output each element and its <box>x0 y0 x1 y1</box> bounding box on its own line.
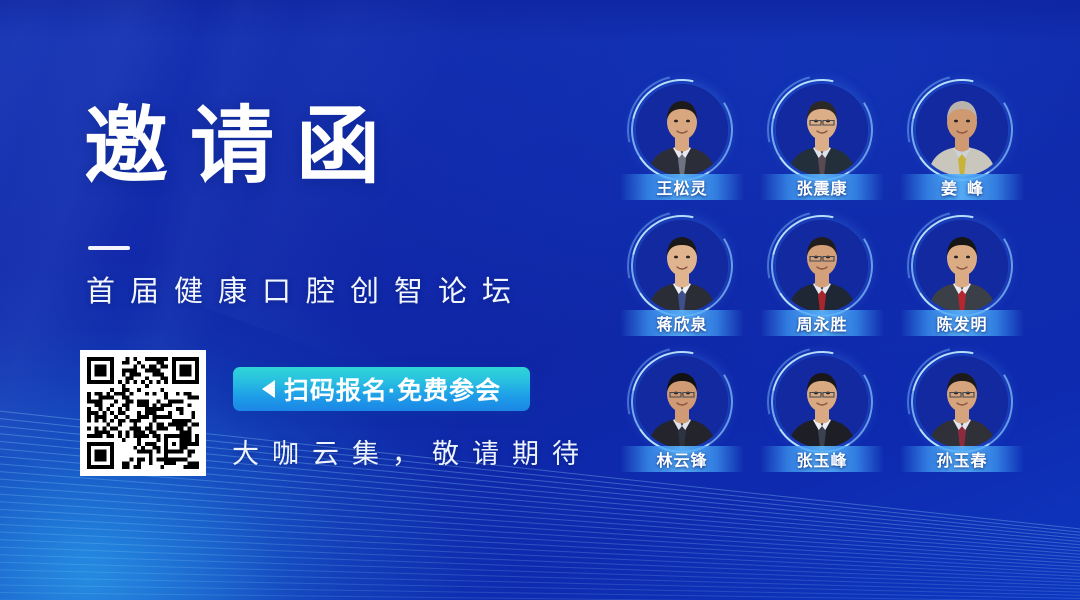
speaker-avatar <box>776 220 868 312</box>
qr-code[interactable] <box>80 350 206 476</box>
speaker-name: 孙玉春 <box>936 447 987 471</box>
speaker-card[interactable]: 张玉峰 <box>752 356 892 474</box>
speaker-name: 王松灵 <box>656 175 707 199</box>
speaker-grid: 王松灵张震康姜峰蒋欣泉周永胜陈发明林云锋张玉峰孙玉春 <box>612 84 1032 474</box>
speaker-name-plate: 孙玉春 <box>900 446 1024 472</box>
speaker-name-plate: 王松灵 <box>620 174 744 200</box>
speaker-avatar <box>636 84 728 176</box>
title-divider <box>88 246 130 250</box>
speaker-portrait-icon <box>776 356 868 448</box>
speaker-avatar <box>916 356 1008 448</box>
tagline-text: 大咖云集，敬请期待 <box>232 432 592 471</box>
speaker-name: 张震康 <box>796 175 847 199</box>
speaker-card[interactable]: 陈发明 <box>892 220 1032 338</box>
speaker-name: 周永胜 <box>796 311 847 335</box>
speaker-card[interactable]: 张震康 <box>752 84 892 202</box>
speaker-name: 张玉峰 <box>796 447 847 471</box>
speaker-name-plate: 蒋欣泉 <box>620 310 744 336</box>
speaker-card[interactable]: 孙玉春 <box>892 356 1032 474</box>
register-button[interactable]: 扫码报名·免费参会 <box>233 367 530 411</box>
left-triangle-icon <box>262 380 275 398</box>
register-button-label: 扫码报名·免费参会 <box>284 371 501 407</box>
speaker-portrait-icon <box>636 84 728 176</box>
speaker-card[interactable]: 林云锋 <box>612 356 752 474</box>
speaker-avatar <box>916 84 1008 176</box>
speaker-card[interactable]: 蒋欣泉 <box>612 220 752 338</box>
speaker-card[interactable]: 周永胜 <box>752 220 892 338</box>
page-subtitle: 首届健康口腔创智论坛 <box>86 268 526 310</box>
speaker-avatar <box>636 356 728 448</box>
speaker-portrait-icon <box>776 84 868 176</box>
left-content-column: 邀请函 首届健康口腔创智论坛 扫码报名·免费参会 大咖云集，敬请期待 <box>0 0 600 600</box>
speaker-portrait-icon <box>636 356 728 448</box>
speaker-card[interactable]: 王松灵 <box>612 84 752 202</box>
speaker-name: 林云锋 <box>656 447 707 471</box>
speaker-avatar <box>916 220 1008 312</box>
speaker-avatar <box>636 220 728 312</box>
invitation-poster: 邀请函 首届健康口腔创智论坛 扫码报名·免费参会 大咖云集，敬请期待 王松灵张震… <box>0 0 1080 600</box>
speaker-name: 陈发明 <box>936 311 987 335</box>
speaker-card[interactable]: 姜峰 <box>892 84 1032 202</box>
qr-code-icon <box>87 357 199 469</box>
speaker-portrait-icon <box>916 220 1008 312</box>
speaker-name-plate: 林云锋 <box>620 446 744 472</box>
speaker-avatar <box>776 84 868 176</box>
speaker-avatar <box>776 356 868 448</box>
speaker-name-plate: 陈发明 <box>900 310 1024 336</box>
speaker-name-plate: 周永胜 <box>760 310 884 336</box>
speaker-name-plate: 张震康 <box>760 174 884 200</box>
speaker-name-plate: 张玉峰 <box>760 446 884 472</box>
speaker-portrait-icon <box>916 84 1008 176</box>
speaker-portrait-icon <box>916 356 1008 448</box>
speaker-portrait-icon <box>636 220 728 312</box>
page-title: 邀请函 <box>84 104 402 188</box>
speaker-name: 姜峰 <box>931 175 993 199</box>
speaker-name-plate: 姜峰 <box>900 174 1024 200</box>
speaker-name: 蒋欣泉 <box>656 311 707 335</box>
speaker-portrait-icon <box>776 220 868 312</box>
